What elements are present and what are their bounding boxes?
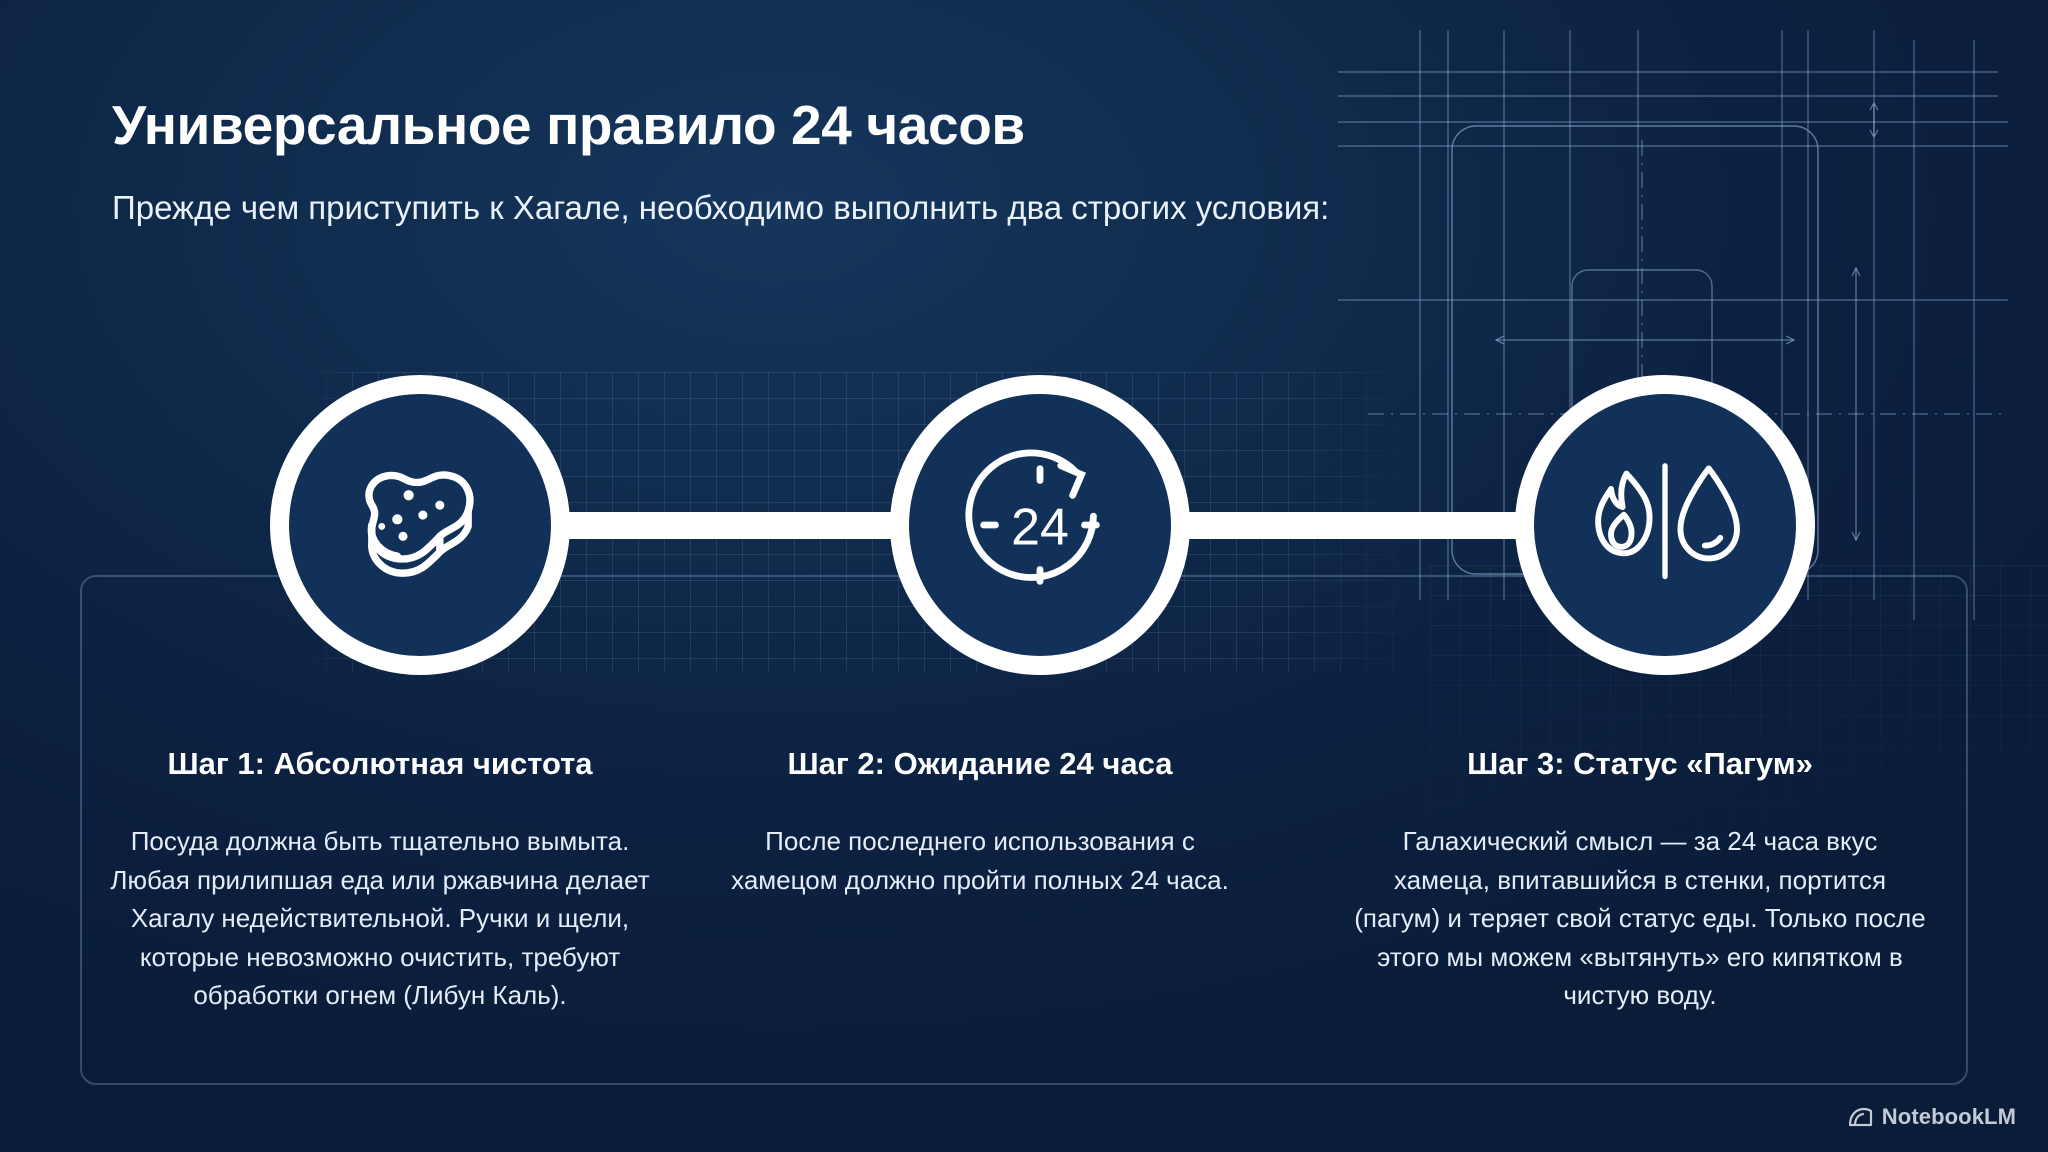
step-column-2: Шаг 2: Ожидание 24 часа После последнего… xyxy=(700,745,1260,899)
watermark-label: NotebookLM xyxy=(1882,1104,2016,1130)
page-title: Универсальное правило 24 часов xyxy=(112,96,1412,155)
step-heading-3: Шаг 3: Статус «Пагум» xyxy=(1340,745,1940,782)
step-column-3: Шаг 3: Статус «Пагум» Галахический смысл… xyxy=(1340,745,1940,1015)
step-circle-3[interactable] xyxy=(1515,375,1815,675)
step-body-3: Галахический смысл — за 24 часа вкус хам… xyxy=(1340,822,1940,1014)
clock-hours-label: 24 xyxy=(1011,498,1069,556)
notebooklm-watermark: NotebookLM xyxy=(1847,1104,2016,1130)
header: Универсальное правило 24 часов Прежде че… xyxy=(112,96,1412,232)
sponge-icon xyxy=(335,440,505,610)
step-body-2: После последнего использования с хамецом… xyxy=(700,822,1260,899)
clock-24-hours-icon: 24 xyxy=(951,436,1129,614)
infographic-canvas: Универсальное правило 24 часов Прежде че… xyxy=(0,0,2048,1152)
step-flow-row: 24 xyxy=(0,375,2048,675)
step-column-1: Шаг 1: Абсолютная чистота Посуда должна … xyxy=(90,745,670,1015)
fire-and-water-drop-icon xyxy=(1575,440,1755,610)
step-heading-1: Шаг 1: Абсолютная чистота xyxy=(90,745,670,782)
page-subtitle: Прежде чем приступить к Хагале, необходи… xyxy=(112,185,1397,231)
step-circle-2[interactable]: 24 xyxy=(890,375,1190,675)
step-circle-1[interactable] xyxy=(270,375,570,675)
step-heading-2: Шаг 2: Ожидание 24 часа xyxy=(700,745,1260,782)
step-body-1: Посуда должна быть тщательно вымыта. Люб… xyxy=(90,822,670,1014)
notebooklm-logo-icon xyxy=(1847,1106,1873,1128)
